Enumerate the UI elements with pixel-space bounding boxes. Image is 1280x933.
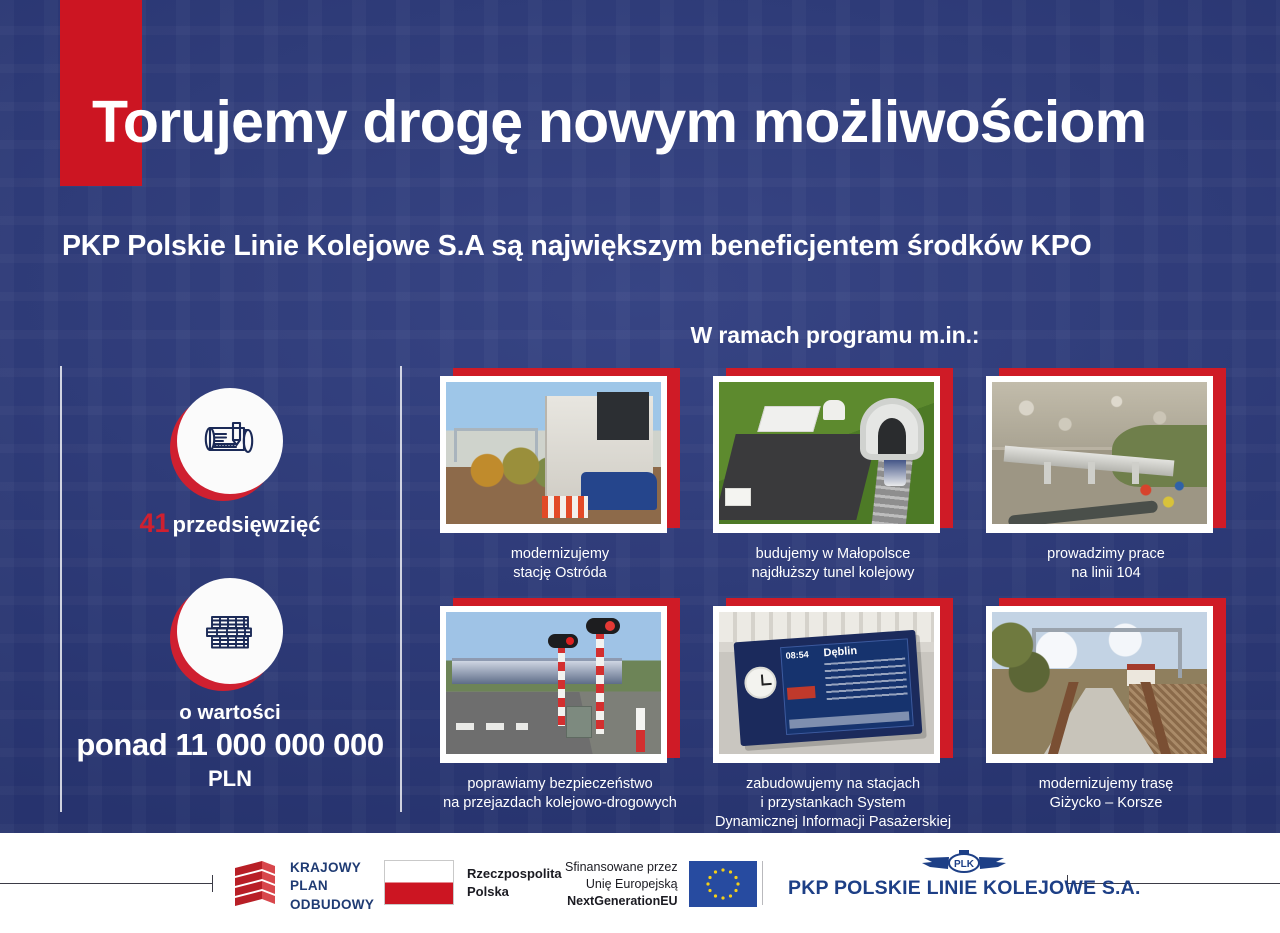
footer-rule-left-tick bbox=[212, 875, 213, 892]
white-mat bbox=[986, 606, 1213, 763]
stat-projects-word: przedsięwzięć bbox=[173, 512, 321, 537]
passenger-information-display-photo: 08:54 Dęblin bbox=[719, 612, 934, 754]
eu-line: Sfinansowane przez bbox=[565, 860, 678, 874]
display-time: 08:54 bbox=[785, 649, 809, 661]
project-caption: poprawiamy bezpieczeństwo na przejazdach… bbox=[440, 775, 680, 813]
stat-value-amount: ponad 11 000 000 000 bbox=[60, 727, 400, 763]
stat-value: o wartości ponad 11 000 000 000 PLN bbox=[60, 578, 400, 792]
eu-line: NextGenerationEU bbox=[567, 894, 677, 908]
white-mat: 08:54 Dęblin bbox=[713, 606, 940, 763]
logo-rzeczpospolita-polska: Rzeczpospolita Polska bbox=[384, 860, 562, 905]
section-title: W ramach programu m.in.: bbox=[435, 322, 1235, 349]
caption-line: prowadzimy prace bbox=[986, 545, 1226, 564]
caption-line: Dynamicznej Informacji Pasażerskiej bbox=[713, 813, 953, 832]
project-caption: modernizujemy trasę Giżycko – Korsze bbox=[986, 775, 1226, 813]
caption-line: najdłuższy tunel kolejowy bbox=[713, 564, 953, 583]
page-subtitle: PKP Polskie Linie Kolejowe S.A są najwię… bbox=[62, 230, 1092, 263]
footer-rule-left bbox=[0, 883, 212, 884]
renewed-track-photo bbox=[992, 612, 1207, 754]
white-mat bbox=[440, 376, 667, 533]
logo-krajowy-plan-odbudowy: KRAJOWY PLAN ODBUDOWY bbox=[232, 858, 374, 915]
pkp-plk-winged-emblem-icon: PLK bbox=[918, 850, 1010, 874]
stat-projects-label: 41przedsięwzięć bbox=[60, 508, 400, 539]
kpo-line: PLAN bbox=[290, 878, 328, 893]
photo-frame: 08:54 Dęblin bbox=[713, 598, 953, 763]
kpo-layers-icon bbox=[232, 858, 278, 915]
caption-line: i przystankach System bbox=[713, 794, 953, 813]
footer-vertical-divider bbox=[762, 861, 763, 905]
poland-line: Polska bbox=[467, 884, 509, 899]
eu-flag-icon bbox=[689, 861, 757, 907]
photo-frame bbox=[440, 368, 680, 533]
logo-european-union: Sfinansowane przez Unię Europejską NextG… bbox=[565, 859, 757, 909]
caption-line: zabudowujemy na stacjach bbox=[713, 775, 953, 794]
poland-line: Rzeczpospolita bbox=[467, 866, 562, 881]
page-title: Torujemy drogę nowym możliwościom bbox=[92, 92, 1252, 154]
project-card: modernizujemy stację Ostróda bbox=[440, 368, 680, 583]
photo-frame bbox=[713, 368, 953, 533]
white-mat bbox=[986, 376, 1213, 533]
pkp-plk-name: PKP POLSKIE LINIE KOLEJOWE S.A. bbox=[788, 877, 1141, 900]
aerial-viaduct-photo bbox=[992, 382, 1207, 524]
project-caption: zabudowujemy na stacjach i przystankach … bbox=[713, 775, 953, 832]
banknote-stack-icon bbox=[177, 578, 283, 684]
stat-value-intro: o wartości bbox=[60, 701, 400, 725]
eu-line: Unię Europejską bbox=[586, 877, 678, 891]
middle-divider-rule bbox=[400, 366, 402, 812]
white-mat bbox=[713, 376, 940, 533]
logo-pkp-plk: PLK PKP POLSKIE LINIE KOLEJOWE S.A. bbox=[788, 850, 1141, 900]
footer-logo-bar: KRAJOWY PLAN ODBUDOWY Rzeczpospolita Pol… bbox=[0, 833, 1280, 933]
kpo-label: KRAJOWY PLAN ODBUDOWY bbox=[290, 859, 374, 914]
caption-line: na przejazdach kolejowo-drogowych bbox=[440, 794, 680, 813]
kpo-line: KRAJOWY bbox=[290, 860, 361, 875]
project-card: poprawiamy bezpieczeństwo na przejazdach… bbox=[440, 598, 680, 813]
project-card: budujemy w Małopolsce najdłuższy tunel k… bbox=[713, 368, 953, 583]
caption-line: na linii 104 bbox=[986, 564, 1226, 583]
tunnel-render-photo bbox=[719, 382, 934, 524]
polish-flag-icon bbox=[384, 860, 454, 905]
caption-line: Giżycko – Korsze bbox=[986, 794, 1226, 813]
blueprint-pencil-icon bbox=[177, 388, 283, 494]
project-caption: modernizujemy stację Ostróda bbox=[440, 545, 680, 583]
stat-projects: 41przedsięwzięć bbox=[60, 388, 400, 539]
stat-projects-number: 41 bbox=[140, 508, 170, 538]
photo-frame bbox=[986, 598, 1226, 763]
project-caption: prowadzimy prace na linii 104 bbox=[986, 545, 1226, 583]
project-card: prowadzimy prace na linii 104 bbox=[986, 368, 1226, 583]
projects-grid: modernizujemy stację Ostróda bbox=[432, 360, 1244, 830]
caption-line: stację Ostróda bbox=[440, 564, 680, 583]
project-caption: budujemy w Małopolsce najdłuższy tunel k… bbox=[713, 545, 953, 583]
caption-line: modernizujemy bbox=[440, 545, 680, 564]
kpo-line: ODBUDOWY bbox=[290, 897, 374, 912]
photo-frame bbox=[440, 598, 680, 763]
stat-value-currency: PLN bbox=[60, 766, 400, 792]
poland-label: Rzeczpospolita Polska bbox=[467, 865, 562, 900]
poster-root: Torujemy drogę nowym możliwościom PKP Po… bbox=[0, 0, 1280, 933]
display-clock-icon bbox=[743, 666, 777, 700]
display-destination: Dęblin bbox=[823, 645, 857, 659]
caption-line: modernizujemy trasę bbox=[986, 775, 1226, 794]
project-card: modernizujemy trasę Giżycko – Korsze bbox=[986, 598, 1226, 813]
stats-column: 41przedsięwzięć bbox=[60, 366, 400, 816]
pkp-emblem-text: PLK bbox=[954, 859, 975, 870]
level-crossing-photo bbox=[446, 612, 661, 754]
white-mat bbox=[440, 606, 667, 763]
eu-label: Sfinansowane przez Unię Europejską NextG… bbox=[565, 859, 678, 909]
photo-frame bbox=[986, 368, 1226, 533]
caption-line: poprawiamy bezpieczeństwo bbox=[440, 775, 680, 794]
caption-line: budujemy w Małopolsce bbox=[713, 545, 953, 564]
project-card: 08:54 Dęblin zabudowujemy na stacjach bbox=[713, 598, 953, 832]
station-renovation-photo bbox=[446, 382, 661, 524]
